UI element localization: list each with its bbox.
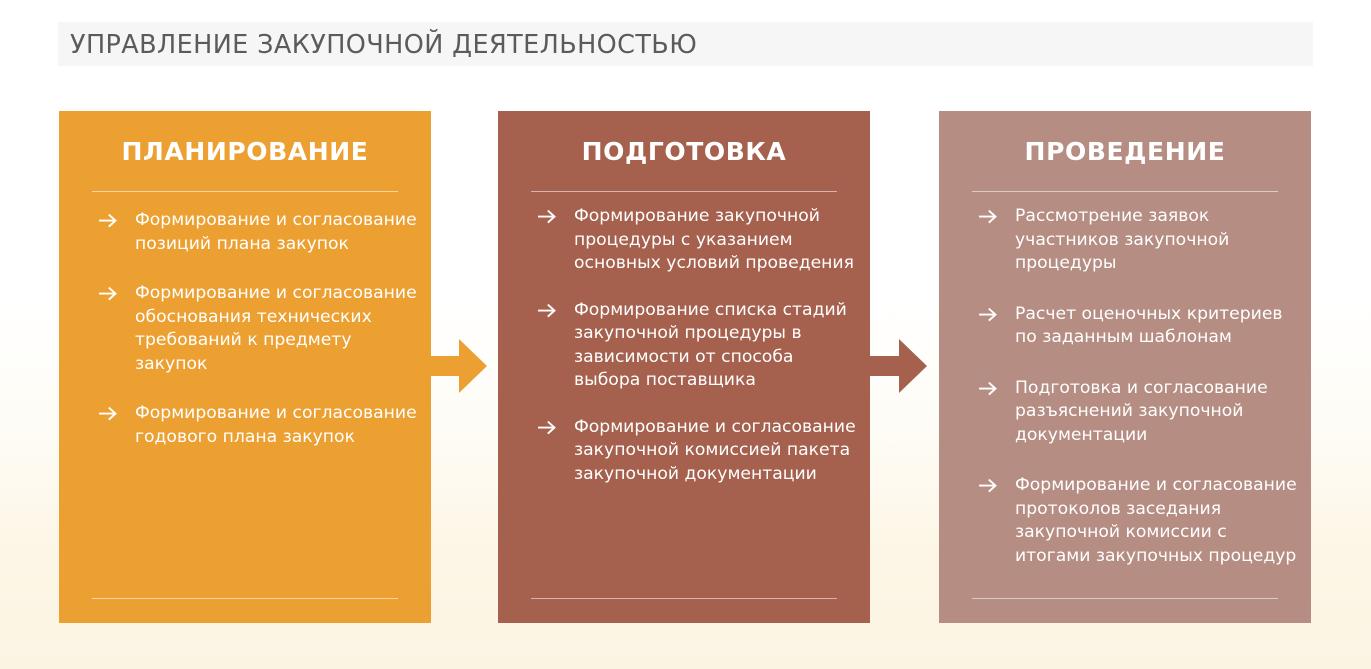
list-item: Формирование списка стадий закупочной пр… — [526, 299, 862, 393]
list-item-label: Формирование и согласование позиций план… — [135, 210, 417, 254]
arrow-right-icon — [538, 301, 558, 319]
list-item: Формирование закупочной процедуры с указ… — [526, 205, 862, 276]
list-item: Формирование и согласование обоснования … — [87, 282, 427, 376]
list-item-label: Формирование и согласование закупочной к… — [574, 417, 856, 484]
arrow-right-icon — [538, 207, 558, 225]
stage-bullet-list: Рассмотрение заявок участников закупочно… — [967, 205, 1299, 595]
stage-header-preparation: ПОДГОТОВКА — [498, 137, 870, 167]
arrow-right-icon — [979, 476, 999, 494]
arrow-right-icon — [99, 211, 119, 229]
list-item: Формирование и согласование протоколов з… — [967, 474, 1299, 568]
stage-card-planning[interactable]: ПЛАНИРОВАНИЕ Формирование и согласование… — [59, 111, 431, 623]
stage-header-planning: ПЛАНИРОВАНИЕ — [59, 137, 431, 167]
header-divider — [92, 191, 398, 192]
list-item-label: Формирование закупочной процедуры с указ… — [574, 206, 854, 273]
list-item-label: Формирование и согласование протоколов з… — [1015, 475, 1297, 566]
footer-divider — [972, 598, 1278, 599]
stage-card-execution[interactable]: ПРОВЕДЕНИЕ Рассмотрение заявок участнико… — [939, 111, 1311, 623]
stage-header-execution: ПРОВЕДЕНИЕ — [939, 137, 1311, 167]
list-item: Подготовка и согласование разъяснений за… — [967, 377, 1299, 448]
list-item: Формирование и согласование годового пла… — [87, 402, 427, 449]
list-item: Формирование и согласование закупочной к… — [526, 416, 862, 487]
stage-bullet-list: Формирование и согласование позиций план… — [87, 209, 427, 475]
stage-card-preparation[interactable]: ПОДГОТОВКА Формирование закупочной проце… — [498, 111, 870, 623]
slide-canvas: УПРАВЛЕНИЕ ЗАКУПОЧНОЙ ДЕЯТЕЛЬНОСТЬЮ ПЛАН… — [0, 0, 1371, 669]
list-item-label: Рассмотрение заявок участников закупочно… — [1015, 206, 1229, 273]
list-item-label: Формирование и согласование обоснования … — [135, 283, 417, 374]
list-item-label: Формирование и согласование годового пла… — [135, 403, 417, 447]
arrow-right-icon — [538, 418, 558, 436]
arrow-right-icon — [99, 404, 119, 422]
stage-bullet-list: Формирование закупочной процедуры с указ… — [526, 205, 862, 509]
header-divider — [531, 191, 837, 192]
footer-divider — [531, 598, 837, 599]
connector-arrow-preparation-to-execution — [869, 337, 927, 395]
list-item-label: Формирование списка стадий закупочной пр… — [574, 300, 847, 391]
arrow-right-icon — [979, 379, 999, 397]
list-item: Расчет оценочных критериев по заданным ш… — [967, 303, 1299, 350]
page-title: УПРАВЛЕНИЕ ЗАКУПОЧНОЙ ДЕЯТЕЛЬНОСТЬЮ — [70, 28, 1270, 62]
list-item: Рассмотрение заявок участников закупочно… — [967, 205, 1299, 276]
list-item-label: Подготовка и согласование разъяснений за… — [1015, 378, 1268, 445]
connector-arrow-planning-to-preparation — [429, 337, 487, 395]
arrow-right-icon — [99, 284, 119, 302]
arrow-right-icon — [979, 305, 999, 323]
arrow-right-icon — [979, 207, 999, 225]
list-item-label: Расчет оценочных критериев по заданным ш… — [1015, 304, 1283, 348]
footer-divider — [92, 598, 398, 599]
header-divider — [972, 191, 1278, 192]
list-item: Формирование и согласование позиций план… — [87, 209, 427, 256]
